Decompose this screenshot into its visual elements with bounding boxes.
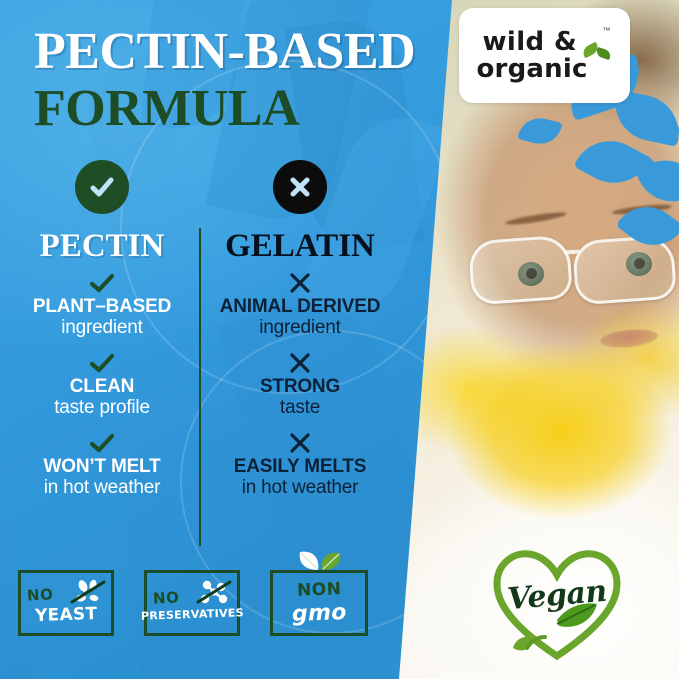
vegan-badge: Vegan bbox=[487, 542, 627, 668]
cross-circle-icon bbox=[273, 160, 327, 214]
headline-line1: PECTIN-BASED bbox=[34, 26, 434, 78]
badge-no-preservatives: NO PRESERVATIVES bbox=[144, 570, 240, 636]
column-gelatin: GELATIN ANIMAL DERIVED ingredient bbox=[202, 160, 398, 265]
badge-no-yeast: NO YEAST bbox=[18, 570, 114, 636]
glasses-bridge bbox=[564, 249, 580, 254]
brand-logo-line2: organic bbox=[475, 56, 615, 83]
feature-main: ANIMAL DERIVED bbox=[202, 297, 398, 317]
trust-badge-row: NO YEAST NO PRESERVATIVES bbox=[18, 562, 358, 644]
decor-leaf-photo-4 bbox=[635, 156, 679, 206]
feature-row: ANIMAL DERIVED ingredient bbox=[202, 272, 398, 338]
lips bbox=[599, 327, 658, 350]
feature-sub: ingredient bbox=[202, 317, 398, 338]
brand-logo-inner: ™ wild & organic bbox=[475, 29, 615, 82]
feature-list-gelatin: ANIMAL DERIVED ingredient STRONG taste bbox=[202, 272, 398, 513]
check-icon bbox=[4, 432, 200, 454]
feature-row: EASILY MELTS in hot weather bbox=[202, 432, 398, 498]
check-circle-icon bbox=[75, 160, 129, 214]
feature-sub: ingredient bbox=[4, 317, 200, 338]
column-pectin: PECTIN PLANT–BASED ingredient bbox=[4, 160, 200, 265]
feature-main: EASILY MELTS bbox=[202, 457, 398, 477]
feature-main: STRONG bbox=[202, 377, 398, 397]
eye-left-pupil bbox=[526, 268, 537, 279]
cross-icon bbox=[202, 272, 398, 294]
decor-leaf-photo-5 bbox=[517, 114, 562, 149]
badge-non-gmo: NON gmo bbox=[270, 570, 368, 636]
comparison-table: PECTIN PLANT–BASED ingredient bbox=[0, 160, 400, 550]
feature-sub: taste profile bbox=[4, 397, 200, 418]
badge-word: gmo bbox=[291, 600, 347, 627]
feature-sub: in hot weather bbox=[4, 477, 200, 498]
feature-row: PLANT–BASED ingredient bbox=[4, 272, 200, 338]
badge-text: NO YEAST bbox=[18, 570, 114, 636]
page-title: PECTIN-BASED FORMULA bbox=[34, 26, 434, 138]
brand-logo: ™ wild & organic bbox=[459, 8, 630, 103]
column-title-pectin: PECTIN bbox=[4, 228, 200, 265]
feature-row: STRONG taste bbox=[202, 352, 398, 418]
infographic-canvas: ™ wild & organic PECTIN-BASED FORMULA PE… bbox=[0, 0, 679, 679]
lens-right bbox=[572, 235, 677, 306]
feature-sub: in hot weather bbox=[202, 477, 398, 498]
eyeglasses bbox=[470, 238, 679, 308]
feature-main: PLANT–BASED bbox=[4, 297, 200, 317]
feature-sub: taste bbox=[202, 397, 398, 418]
check-icon bbox=[4, 272, 200, 294]
badge-prefix: NO bbox=[27, 585, 54, 604]
decor-leaf-photo-6 bbox=[616, 193, 679, 258]
eye-right-pupil bbox=[634, 258, 645, 269]
badge-word: PRESERVATIVES bbox=[140, 606, 243, 623]
eyebrow-left bbox=[505, 210, 567, 227]
cross-icon bbox=[202, 432, 398, 454]
feature-main: CLEAN bbox=[4, 377, 200, 397]
badge-word: YEAST bbox=[34, 603, 97, 625]
feature-list-pectin: PLANT–BASED ingredient CLEAN taste profi… bbox=[4, 272, 200, 513]
cross-icon bbox=[202, 352, 398, 374]
badge-prefix: NON bbox=[296, 579, 341, 601]
feature-row: WON’T MELT in hot weather bbox=[4, 432, 200, 498]
headline-line2: FORMULA bbox=[34, 80, 434, 138]
trademark-symbol: ™ bbox=[603, 26, 611, 35]
feature-main: WON’T MELT bbox=[4, 457, 200, 477]
badge-text: NON gmo bbox=[270, 570, 368, 636]
column-title-gelatin: GELATIN bbox=[202, 228, 398, 265]
check-icon bbox=[4, 352, 200, 374]
badge-text: NO PRESERVATIVES bbox=[144, 570, 240, 636]
feature-row: CLEAN taste profile bbox=[4, 352, 200, 418]
badge-prefix: NO bbox=[153, 588, 180, 607]
